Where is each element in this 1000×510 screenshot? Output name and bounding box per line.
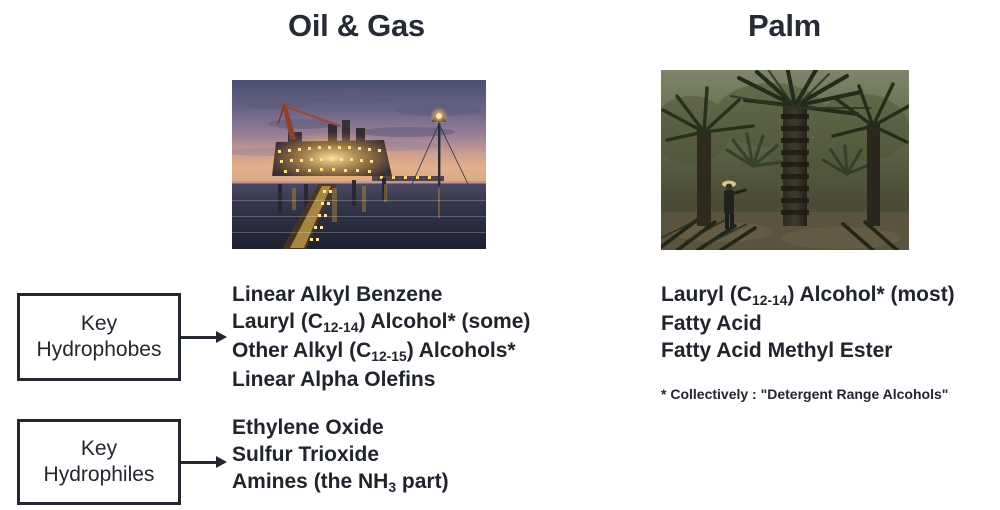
chemical-name-text: Lauryl (C [232, 310, 323, 333]
key-hydrophobes-line2: Hydrophobes [37, 338, 162, 361]
chemical-name-text: Linear Alpha Olefins [232, 368, 435, 391]
chemical-name-line: Lauryl (C12-14) Alcohol* (most) [661, 281, 955, 310]
chemical-name-line: Lauryl (C12-14) Alcohol* (some) [232, 308, 530, 337]
chemical-name-line: Ethylene Oxide [232, 414, 449, 441]
key-hydrophiles-line2: Hydrophiles [44, 463, 155, 486]
oil-platform-illustration [232, 80, 486, 249]
chemical-name-text: Ethylene Oxide [232, 416, 384, 439]
key-hydrophiles-label: Key Hydrophiles [40, 436, 159, 487]
chemical-name-text: Lauryl (C [661, 283, 752, 306]
footnote-detergent-range-alcohols: * Collectively : "Detergent Range Alcoho… [661, 386, 948, 402]
arrow-shaft [181, 336, 217, 339]
key-hydrophiles-box: Key Hydrophiles [17, 419, 181, 505]
chemical-name-text: ) Alcohol* (some) [358, 310, 530, 333]
chemical-name-text: Amines (the NH [232, 470, 388, 493]
palm-plantation-photo [661, 70, 909, 250]
chemical-name-line: Other Alkyl (C12-15) Alcohols* [232, 337, 530, 366]
palm-hydrophobes-list: Lauryl (C12-14) Alcohol* (most)Fatty Aci… [661, 281, 955, 364]
chemical-name-line: Linear Alpha Olefins [232, 366, 530, 393]
oil-gas-hydrophobes-list: Linear Alkyl BenzeneLauryl (C12-14) Alco… [232, 281, 530, 393]
chemical-name-line: Sulfur Trioxide [232, 441, 449, 468]
oil-platform-photo [232, 80, 486, 249]
chemical-subscript: 12-14 [323, 319, 358, 335]
chemical-name-text: Other Alkyl (C [232, 339, 371, 362]
arrow-shaft [181, 461, 217, 464]
key-hydrophobes-label: Key Hydrophobes [33, 311, 166, 362]
arrow-hydrophiles-icon [181, 455, 227, 469]
slide-canvas: Oil & Gas Palm [0, 0, 1000, 510]
key-hydrophiles-line1: Key [81, 437, 117, 460]
chemical-subscript: 3 [388, 479, 396, 495]
chemical-name-text: Fatty Acid Methyl Ester [661, 339, 892, 362]
chemical-name-text: Fatty Acid [661, 312, 762, 335]
arrow-head [216, 456, 227, 468]
chemical-name-text: part) [396, 470, 449, 493]
palm-plantation-illustration [661, 70, 909, 250]
chemical-name-text: Linear Alkyl Benzene [232, 283, 442, 306]
chemical-name-line: Amines (the NH3 part) [232, 468, 449, 497]
chemical-name-line: Fatty Acid [661, 310, 955, 337]
chemical-name-text: Sulfur Trioxide [232, 443, 379, 466]
chemical-name-line: Fatty Acid Methyl Ester [661, 337, 955, 364]
chemical-name-text: ) Alcohol* (most) [787, 283, 954, 306]
chemical-subscript: 12-14 [752, 292, 787, 308]
chemical-subscript: 12-15 [371, 348, 406, 364]
key-hydrophobes-line1: Key [81, 312, 117, 335]
chemical-name-text: ) Alcohols* [407, 339, 516, 362]
arrow-head [216, 331, 227, 343]
key-hydrophobes-box: Key Hydrophobes [17, 293, 181, 381]
oil-gas-hydrophiles-list: Ethylene OxideSulfur TrioxideAmines (the… [232, 414, 449, 497]
column-title-palm: Palm [748, 8, 821, 44]
chemical-name-line: Linear Alkyl Benzene [232, 281, 530, 308]
column-title-oil-gas: Oil & Gas [288, 8, 425, 44]
arrow-hydrophobes-icon [181, 330, 227, 344]
